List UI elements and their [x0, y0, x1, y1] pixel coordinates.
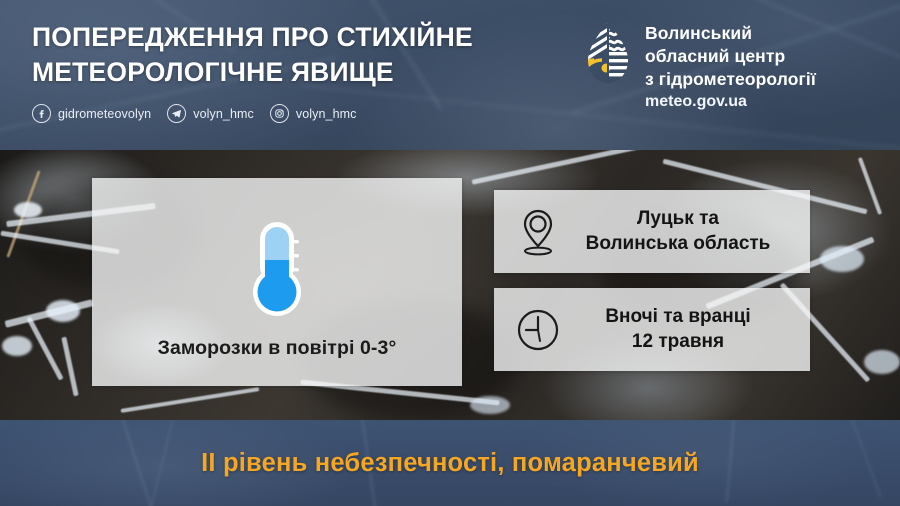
location-line2: Волинська область: [560, 232, 796, 256]
organization-website[interactable]: meteo.gov.ua: [645, 92, 816, 113]
time-line1: Вночі та вранці: [560, 305, 796, 329]
organization-logo: Волинський обласний центр з гідрометеоро…: [584, 22, 816, 113]
telegram-icon: [167, 104, 186, 123]
temperature-card: Заморозки в повітрі 0-3°: [92, 178, 462, 386]
social-link-telegram[interactable]: volyn_hmc: [167, 104, 254, 123]
organization-name: Волинський обласний центр з гідрометеоро…: [645, 22, 816, 113]
social-handle-facebook: gidrometeovolyn: [58, 107, 151, 121]
photo-frost-line: [121, 387, 260, 413]
map-pin-icon: [516, 208, 560, 256]
page-title: ПОПЕРЕДЖЕННЯ ПРО СТИХІЙНЕ МЕТЕОРОЛОГІЧНЕ…: [32, 20, 572, 90]
page-title-line2: МЕТЕОРОЛОГІЧНЕ ЯВИЩЕ: [32, 55, 572, 90]
time-text: Вночі та вранці 12 травня: [560, 305, 810, 354]
social-handle-instagram: volyn_hmc: [296, 107, 357, 121]
photo-frost-line: [858, 157, 882, 215]
social-link-instagram[interactable]: volyn_hmc: [270, 104, 357, 123]
photo-frost-cluster: [470, 396, 510, 414]
temperature-caption: Заморозки в повітрі 0-3°: [92, 337, 462, 360]
photo-frost-cluster: [46, 300, 80, 322]
thermometer-icon: [92, 216, 462, 324]
social-links: gidrometeovolyn volyn_hmc: [32, 104, 357, 123]
location-card: Луцьк та Волинська область: [494, 190, 810, 273]
clock-icon: [516, 308, 560, 352]
time-card: Вночі та вранці 12 травня: [494, 288, 810, 371]
danger-level-text: II рівень небезпечності, помаранчевий: [0, 420, 900, 506]
location-text: Луцьк та Волинська область: [560, 207, 810, 256]
frost-photo-background: Заморозки в повітрі 0-3° Луцьк та Волинс…: [0, 150, 900, 420]
social-handle-telegram: volyn_hmc: [193, 107, 254, 121]
weather-warning-poster: ПОПЕРЕДЖЕННЯ ПРО СТИХІЙНЕ МЕТЕОРОЛОГІЧНЕ…: [0, 0, 900, 506]
organization-name-line3: з гідрометеорології: [645, 68, 816, 91]
page-title-line1: ПОПЕРЕДЖЕННЯ ПРО СТИХІЙНЕ: [32, 22, 473, 52]
photo-frost-line: [61, 337, 78, 397]
social-link-facebook[interactable]: gidrometeovolyn: [32, 104, 151, 123]
organization-name-line1: Волинський: [645, 22, 816, 45]
photo-frost-line: [26, 316, 63, 380]
organization-name-line2: обласний центр: [645, 45, 816, 68]
hydrometeorology-leaf-icon: [584, 22, 632, 88]
time-line2: 12 травня: [560, 330, 796, 354]
location-line1: Луцьк та: [560, 207, 796, 231]
photo-frost-cluster: [14, 202, 42, 218]
photo-frost-cluster: [2, 336, 32, 356]
header-banner: ПОПЕРЕДЖЕННЯ ПРО СТИХІЙНЕ МЕТЕОРОЛОГІЧНЕ…: [0, 0, 900, 150]
photo-frost-cluster: [820, 246, 864, 272]
photo-frost-cluster: [864, 350, 900, 374]
instagram-icon: [270, 104, 289, 123]
danger-level-banner: II рівень небезпечності, помаранчевий: [0, 420, 900, 506]
photo-frost-line: [472, 150, 659, 185]
facebook-icon: [32, 104, 51, 123]
